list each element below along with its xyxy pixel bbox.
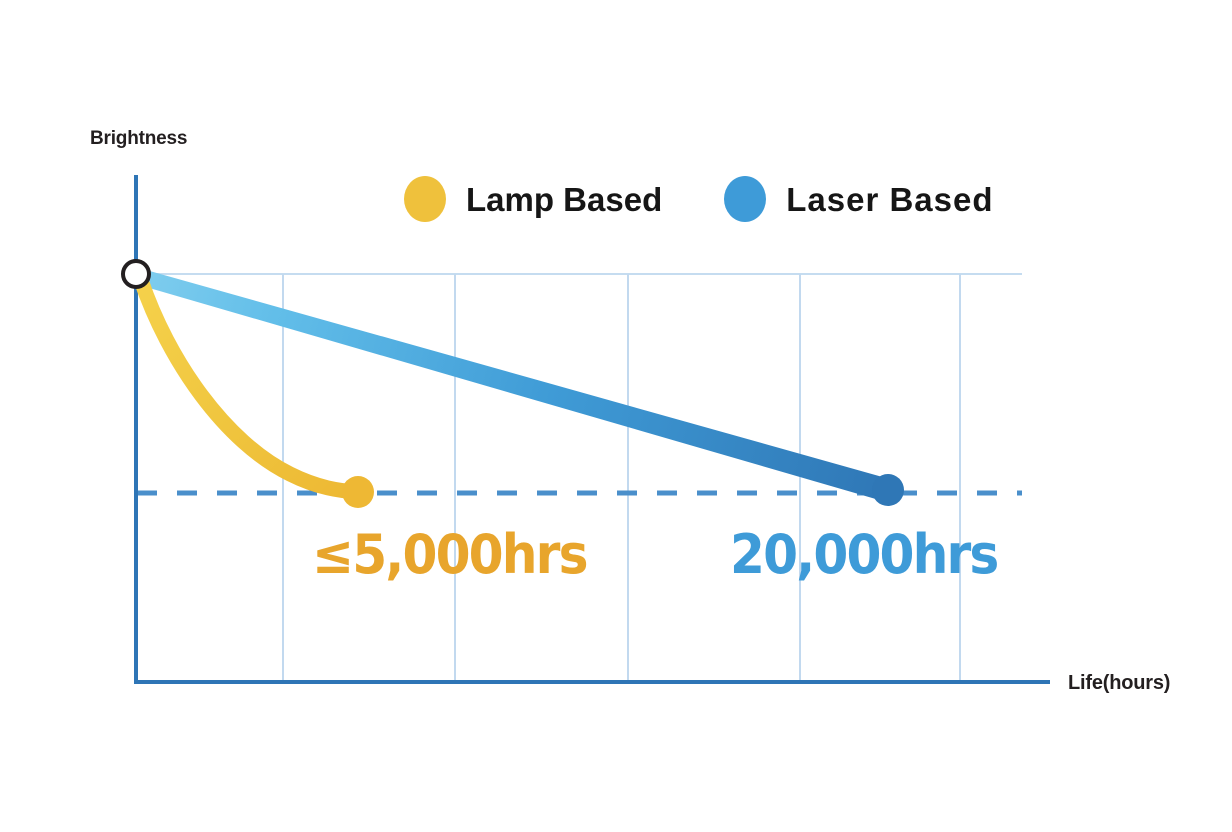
annotation-lamp-lifetime: ≤5,000hrs (312, 528, 587, 582)
legend-swatch-lamp-circle-icon (404, 176, 446, 222)
legend-label-lamp-based: Lamp Based (466, 183, 662, 216)
legend-label-laser-based: Laser Based (786, 183, 993, 216)
endpoint-marker-lamp (342, 476, 374, 508)
series-line-laser (139, 268, 886, 502)
y-axis-title: Brightness (90, 128, 187, 150)
chart-legend: Lamp Based Laser Based (404, 176, 994, 222)
endpoint-marker-laser (872, 474, 904, 506)
chart-canvas: Brightness Life(hours) Lamp Based Laser … (0, 0, 1232, 832)
legend-swatch-laser-circle-icon (724, 176, 766, 222)
origin-marker-icon (123, 261, 149, 287)
legend-item-lamp-based[interactable]: Lamp Based (404, 176, 662, 222)
x-axis-title: Life(hours) (1068, 672, 1170, 695)
annotation-laser-lifetime: 20,000hrs (730, 528, 997, 582)
legend-item-laser-based[interactable]: Laser Based (724, 176, 993, 222)
chart-graphic (0, 0, 1232, 832)
